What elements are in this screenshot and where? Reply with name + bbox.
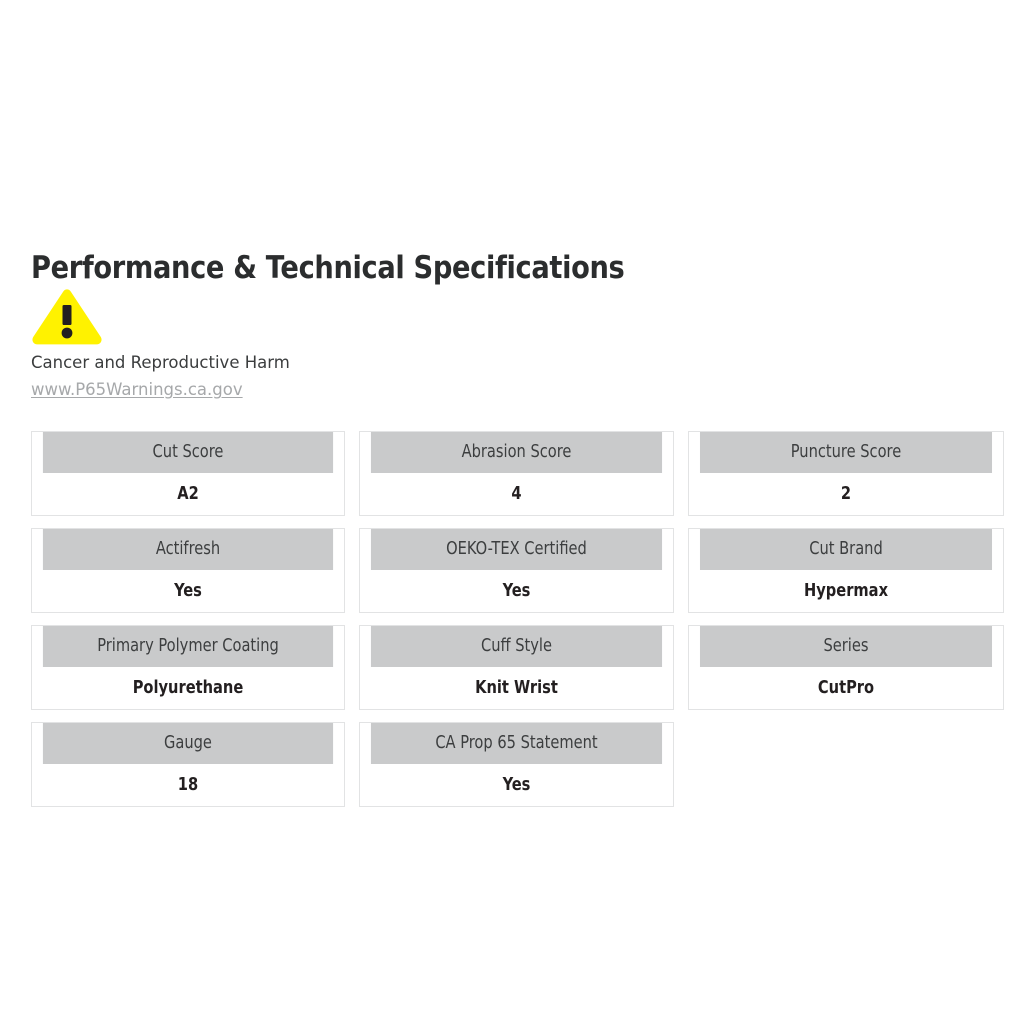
spec-card-grid: Cut Score A2 Abrasion Score 4 Puncture S… <box>31 431 1004 819</box>
spec-card-value: A2 <box>43 473 333 515</box>
warning-triangle-icon <box>31 288 103 346</box>
spec-card-value: 2 <box>700 473 992 515</box>
spec-card: Gauge 18 <box>31 722 345 807</box>
spec-card-value: Knit Wrist <box>371 667 662 709</box>
spec-card-value: Polyurethane <box>43 667 333 709</box>
spec-card-label: Cuff Style <box>371 626 662 667</box>
spec-sheet-page: Performance & Technical Specifications C… <box>0 0 1024 1024</box>
prop65-warning-link[interactable]: www.P65Warnings.ca.gov <box>31 379 243 401</box>
spec-row: Actifresh Yes OEKO-TEX Certified Yes Cut… <box>31 528 1004 625</box>
spec-card-label: Series <box>700 626 992 667</box>
prop65-warning-block: Cancer and Reproductive Harm www.P65Warn… <box>31 288 451 401</box>
spec-card-value: CutPro <box>700 667 992 709</box>
spec-card: OEKO-TEX Certified Yes <box>359 528 674 613</box>
spec-row: Gauge 18 CA Prop 65 Statement Yes <box>31 722 1004 819</box>
spec-card-value: Yes <box>43 570 333 612</box>
spec-card-label: OEKO-TEX Certified <box>371 529 662 570</box>
spec-card: Cuff Style Knit Wrist <box>359 625 674 710</box>
spec-row: Cut Score A2 Abrasion Score 4 Puncture S… <box>31 431 1004 528</box>
spec-card-value: 4 <box>371 473 662 515</box>
spec-card: Puncture Score 2 <box>688 431 1004 516</box>
spec-card-label: Cut Score <box>43 432 333 473</box>
spec-card-label: Cut Brand <box>700 529 992 570</box>
page-title: Performance & Technical Specifications <box>31 249 858 287</box>
spec-card-value: Yes <box>371 570 662 612</box>
spec-card: Cut Brand Hypermax <box>688 528 1004 613</box>
spec-card-label: Puncture Score <box>700 432 992 473</box>
spec-row: Primary Polymer Coating Polyurethane Cuf… <box>31 625 1004 722</box>
spec-card-label: Gauge <box>43 723 333 764</box>
spec-card: Cut Score A2 <box>31 431 345 516</box>
spec-card-label: Abrasion Score <box>371 432 662 473</box>
spec-card: Abrasion Score 4 <box>359 431 674 516</box>
spec-card-value: Hypermax <box>700 570 992 612</box>
spec-card: Series CutPro <box>688 625 1004 710</box>
spec-card: Primary Polymer Coating Polyurethane <box>31 625 345 710</box>
spec-card-label: CA Prop 65 Statement <box>371 723 662 764</box>
spec-card-label: Primary Polymer Coating <box>43 626 333 667</box>
spec-card-label: Actifresh <box>43 529 333 570</box>
spec-card: CA Prop 65 Statement Yes <box>359 722 674 807</box>
spec-card-value: 18 <box>43 764 333 806</box>
spec-card: Actifresh Yes <box>31 528 345 613</box>
spec-card-value: Yes <box>371 764 662 806</box>
warning-text: Cancer and Reproductive Harm <box>31 352 451 374</box>
